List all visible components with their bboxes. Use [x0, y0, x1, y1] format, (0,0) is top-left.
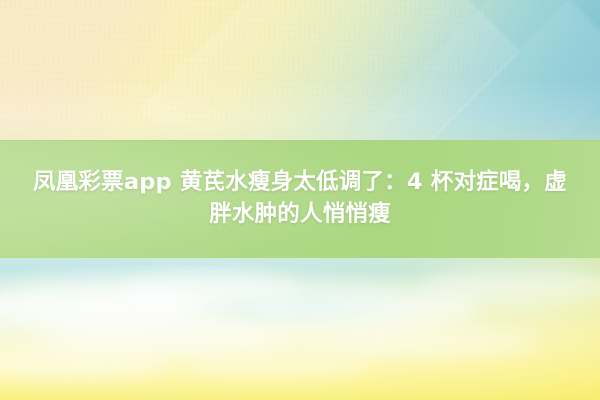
cloud-shape	[180, 354, 370, 380]
texture-grain-overlay	[0, 0, 600, 141]
cloud-shape	[420, 266, 600, 304]
headline-band: 凤凰彩票app 黄芪水瘦身太低调了：4 杯对症喝，虚胖水肿的人悄悄瘦	[0, 140, 600, 258]
cloud-shape	[250, 288, 480, 328]
bottom-sky-scene	[0, 258, 600, 400]
sky-cyan-tint	[180, 292, 440, 322]
cloud-shape	[40, 320, 300, 354]
top-gradient-scene	[0, 0, 600, 141]
cloud-shape	[0, 350, 170, 380]
diagonal-ribbon-overlay-1	[139, 0, 521, 141]
diagonal-ribbon-overlay-3	[429, 0, 600, 141]
sky-haze	[0, 266, 600, 328]
article-banner: 凤凰彩票app 黄芪水瘦身太低调了：4 杯对症喝，虚胖水肿的人悄悄瘦	[0, 0, 600, 400]
cloud-shape	[120, 272, 300, 308]
headline-text: 凤凰彩票app 黄芪水瘦身太低调了：4 杯对症喝，虚胖水肿的人悄悄瘦	[22, 167, 578, 231]
diagonal-ribbon-overlay-2	[316, 0, 600, 141]
cloud-shape	[0, 284, 190, 328]
cloud-shape	[300, 328, 540, 358]
